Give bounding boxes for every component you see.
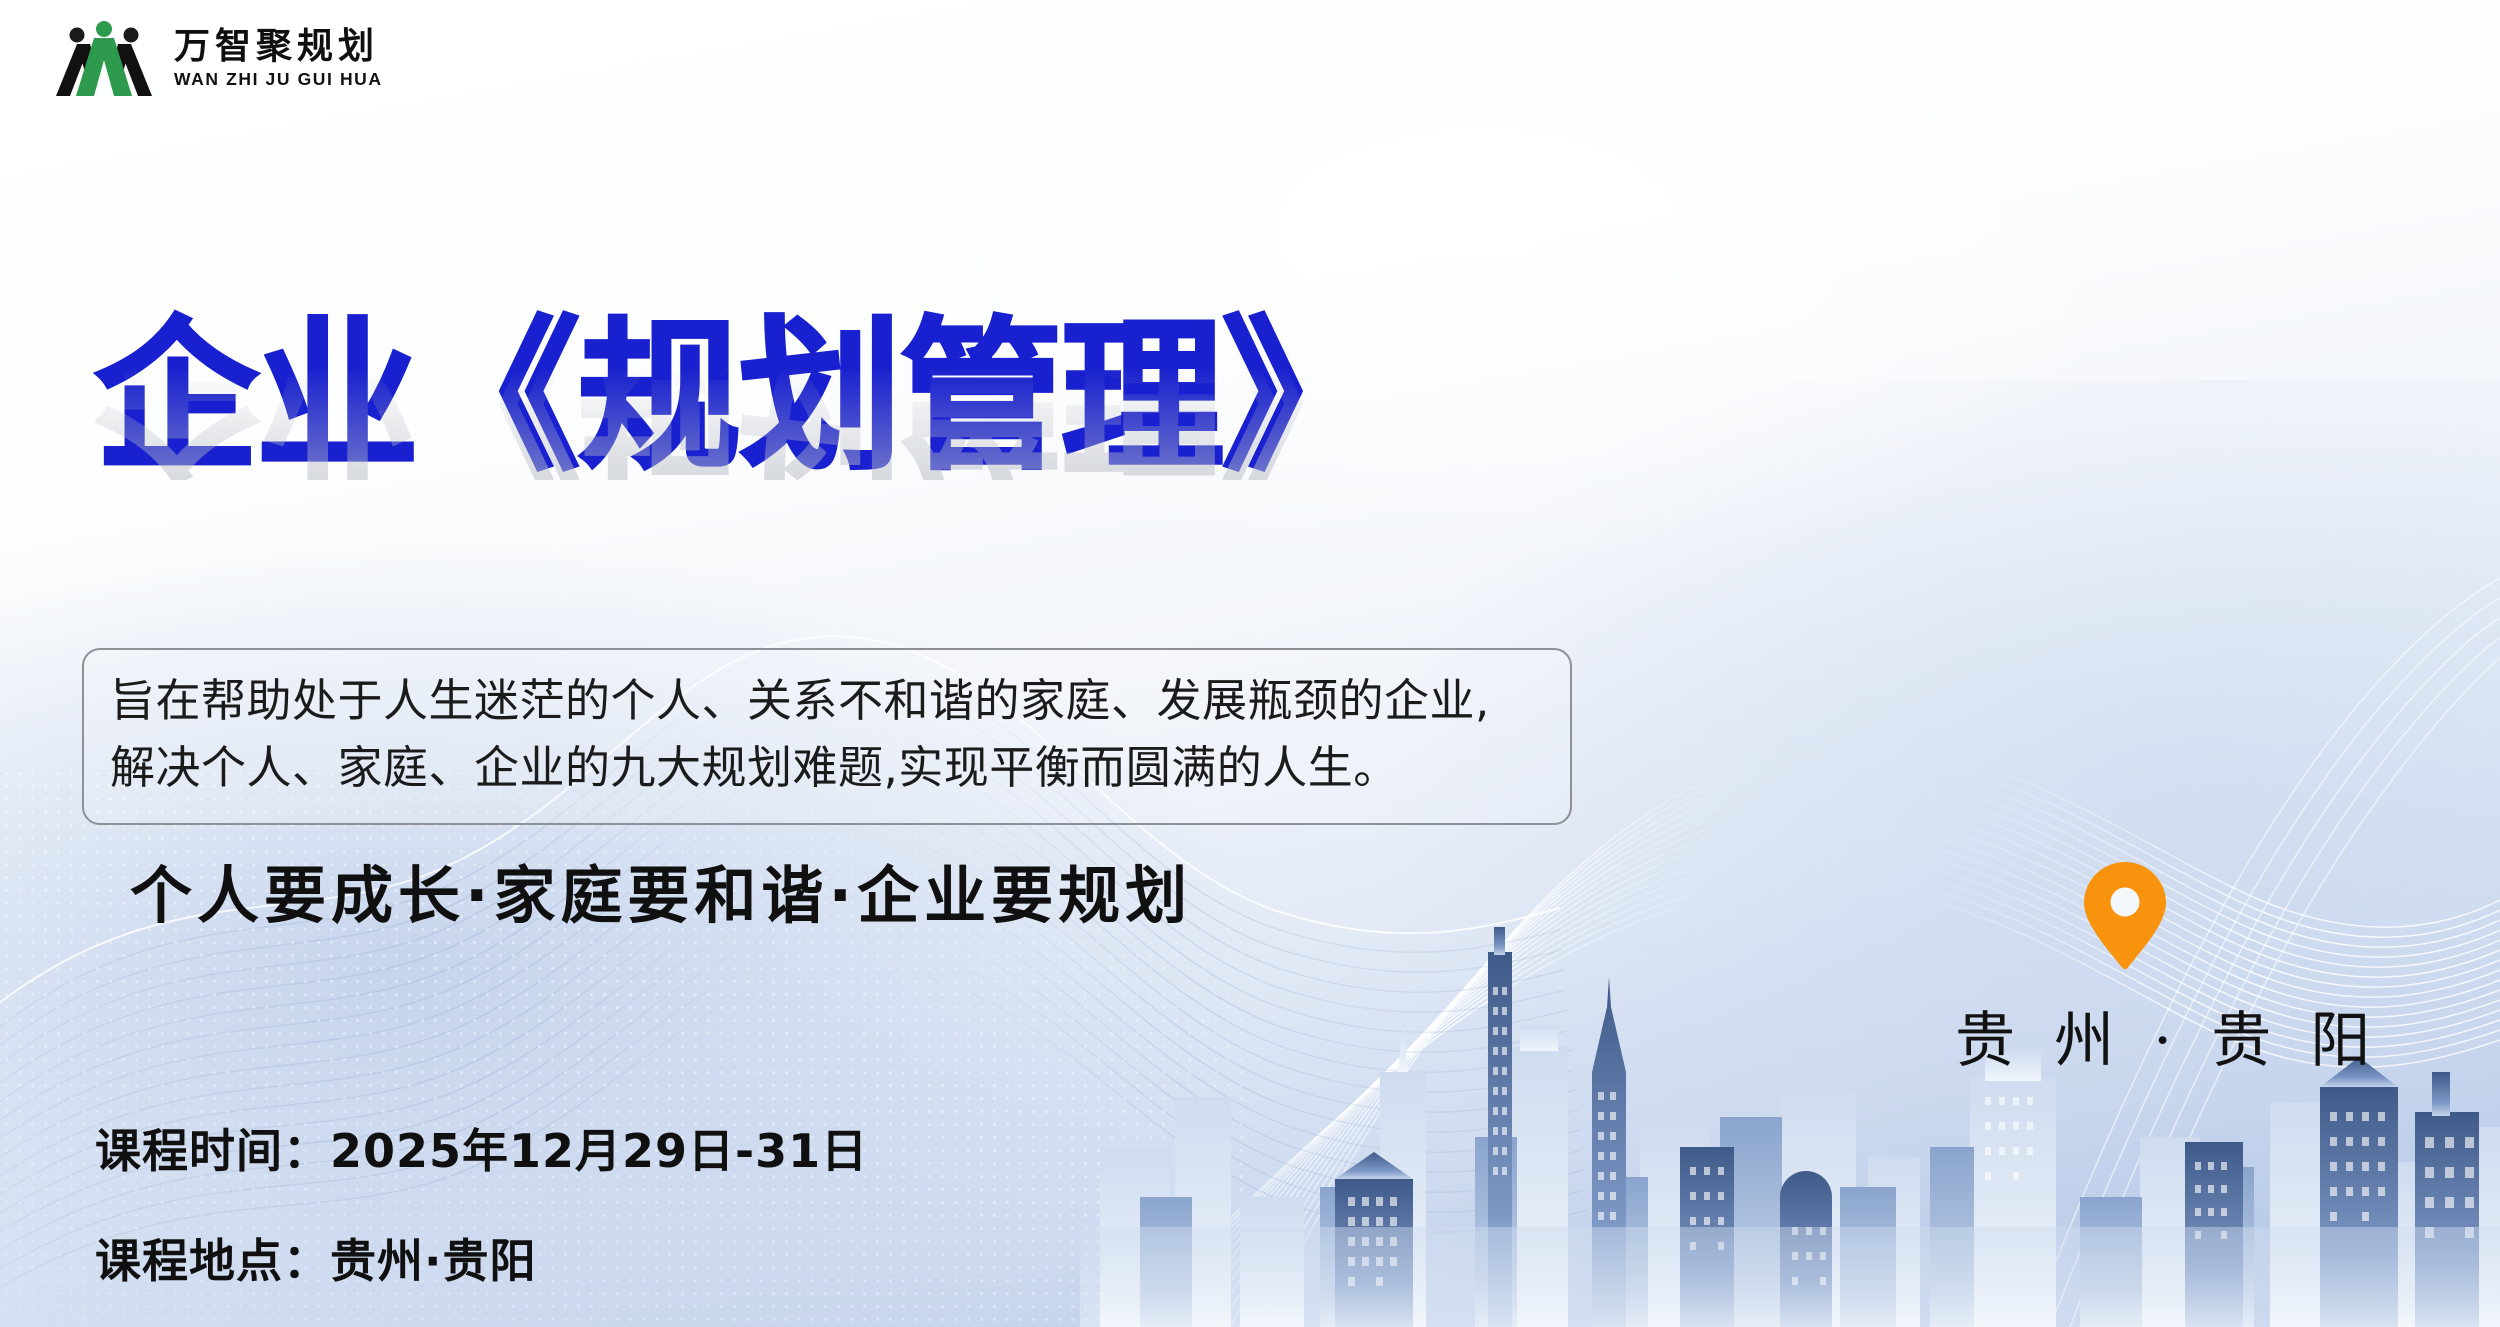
course-place: 课程地点：贵州·贵阳 [95, 1225, 868, 1291]
course-time: 课程时间：2025年12月29日-31日 [95, 1115, 868, 1181]
description-line-2: 解决个人、家庭、企业的九大规划难题,实现平衡而圆满的人生。 [110, 735, 1544, 802]
location-city: 贵 州 · 贵 阳 [1955, 992, 2295, 1079]
brand-logo[interactable]: 万智聚规划 WAN ZHI JU GUI HUA [52, 18, 383, 98]
description-box: 旨在帮助处于人生迷茫的个人、关系不和谐的家庭、发展瓶颈的企业, 解决个人、家庭、… [82, 648, 1572, 825]
description-line-1: 旨在帮助处于人生迷茫的个人、关系不和谐的家庭、发展瓶颈的企业, [110, 668, 1544, 735]
location-badge: 贵 州 · 贵 阳 [1955, 862, 2295, 1079]
hero-tagline: 个人要成长·家庭要和谐·企业要规划 [130, 845, 1192, 935]
brand-wordmark: 万智聚规划 WAN ZHI JU GUI HUA [174, 28, 383, 89]
page-title-reflection: 企业《规划管理》 [95, 356, 1655, 480]
hero-title-block: 企业《规划管理》 企业《规划管理》 [95, 315, 1655, 604]
poster-canvas: 万智聚规划 WAN ZHI JU GUI HUA 企业《规划管理》 企业《规划管… [0, 0, 2500, 1327]
map-pin-icon [2084, 862, 2166, 970]
brand-name-en: WAN ZHI JU GUI HUA [174, 71, 383, 89]
brand-name-cn: 万智聚规划 [174, 28, 383, 64]
course-info: 课程时间：2025年12月29日-31日 课程地点：贵州·贵阳 [95, 1115, 868, 1291]
three-people-logo-icon [52, 18, 156, 98]
